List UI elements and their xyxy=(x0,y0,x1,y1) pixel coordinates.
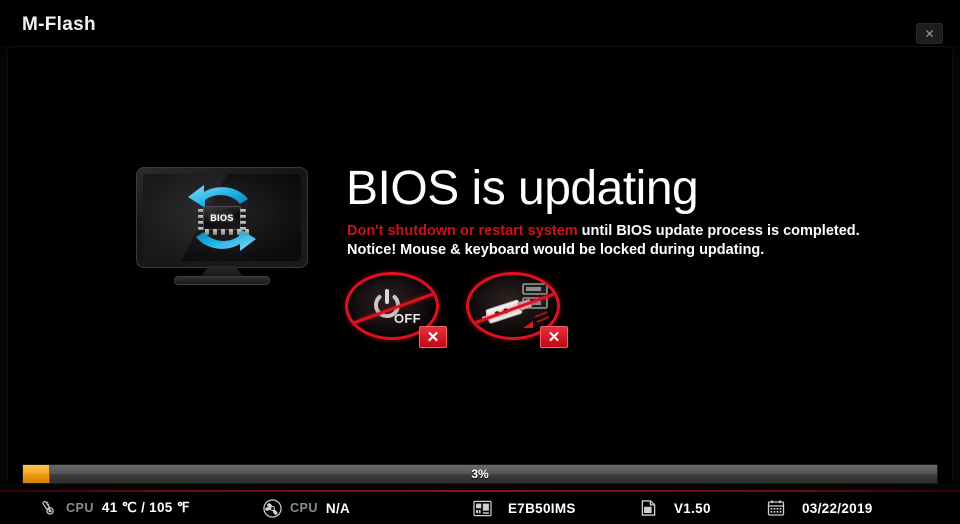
motherboard-icon xyxy=(472,498,492,518)
monitor-bios-update-icon: BIOS xyxy=(136,167,316,282)
status-key: CPU xyxy=(66,501,94,515)
fan-icon xyxy=(262,498,282,518)
status-bar: CPU 41 ℃ / 105 ℉ CPU N/A xyxy=(0,492,960,524)
x-badge: ✕ xyxy=(540,326,568,348)
x-badge: ✕ xyxy=(419,326,447,348)
bios-chip-graphic: BIOS xyxy=(198,204,246,232)
usb-unplug-prohibited-icon: ✕ xyxy=(466,272,568,350)
monitor-screen: BIOS xyxy=(143,174,301,261)
status-item-cpu-fan: CPU N/A xyxy=(262,492,350,524)
close-icon: ✕ xyxy=(924,28,934,40)
status-key: CPU xyxy=(290,501,318,515)
calendar-icon xyxy=(766,498,786,518)
status-value: E7B50IMS xyxy=(508,501,576,516)
thermometer-icon xyxy=(38,498,58,518)
monitor-stand-base xyxy=(174,276,270,285)
chip-pins-right xyxy=(240,209,246,230)
power-off-prohibited-icon: OFF ✕ xyxy=(345,272,447,350)
status-item-cpu-temp: CPU 41 ℃ / 105 ℉ xyxy=(38,492,190,524)
status-item-board-model: E7B50IMS xyxy=(472,492,576,524)
notice-line: Notice! Mouse & keyboard would be locked… xyxy=(347,242,764,258)
warning-red-text: Don't shutdown or restart system xyxy=(347,223,578,239)
m-flash-window: M-Flash ✕ xyxy=(0,0,960,524)
chip-pins-bottom xyxy=(205,229,249,235)
monitor-bezel: BIOS xyxy=(136,167,308,268)
main-content-panel: BIOS BIOS is updating xyxy=(7,46,953,484)
chip-body: BIOS xyxy=(203,206,241,230)
warning-white-text: until BIOS update process is completed. xyxy=(578,223,860,239)
x-icon: ✕ xyxy=(427,330,440,345)
bios-chip-icon xyxy=(638,498,658,518)
warning-line-primary: Don't shutdown or restart system until B… xyxy=(347,223,860,239)
status-value: V1.50 xyxy=(674,501,711,516)
headline-text: BIOS is updating xyxy=(346,165,698,213)
chip-label: BIOS xyxy=(210,213,234,223)
off-label: OFF xyxy=(394,311,421,326)
status-value: 03/22/2019 xyxy=(802,501,873,516)
page-title: M-Flash xyxy=(22,14,96,36)
status-item-bios-date: 03/22/2019 xyxy=(766,492,873,524)
status-value: N/A xyxy=(326,501,350,516)
close-button[interactable]: ✕ xyxy=(916,23,943,44)
title-bar: M-Flash ✕ xyxy=(0,0,960,46)
status-value: 41 ℃ / 105 ℉ xyxy=(102,500,190,516)
x-icon: ✕ xyxy=(548,330,561,345)
progress-bar: 3% xyxy=(22,462,938,486)
status-item-bios-version: V1.50 xyxy=(638,492,711,524)
progress-label: 3% xyxy=(22,464,938,484)
